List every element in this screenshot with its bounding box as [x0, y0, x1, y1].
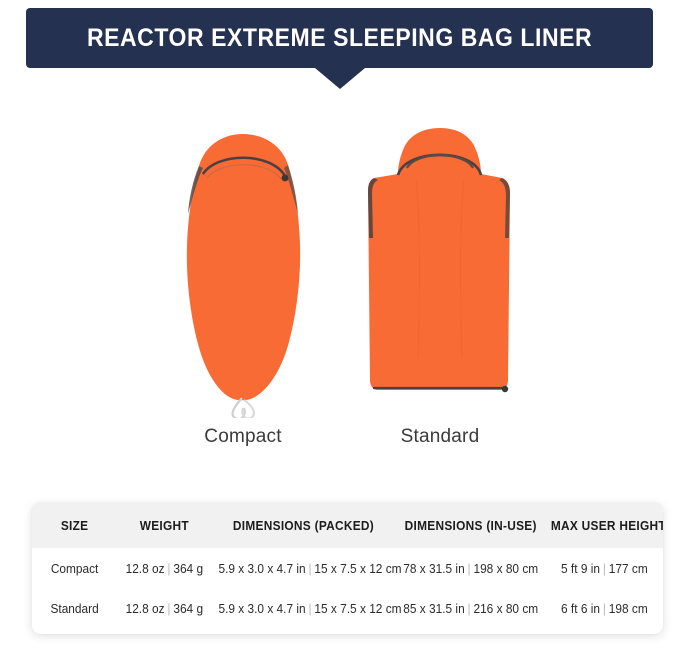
height-metric: 177 cm	[609, 562, 648, 576]
col-header-weight: WEIGHT	[120, 503, 210, 548]
inuse-imperial: 85 x 31.5 in	[403, 602, 464, 616]
cell-dimensions-packed: 5.9 x 3.0 x 4.7 in|15 x 7.5 x 12 cm	[216, 548, 390, 590]
inuse-imperial: 78 x 31.5 in	[403, 562, 464, 576]
col-header-dimensions-packed: DIMENSIONS (PACKED)	[216, 503, 390, 548]
page-title: REACTOR EXTREME SLEEPING BAG LINER	[87, 26, 592, 51]
spec-table-body: Compact 12.8 oz|364 g 5.9 x 3.0 x 4.7 in…	[32, 548, 663, 634]
banner-notch-triangle	[315, 68, 365, 89]
col-header-size: SIZE	[34, 503, 115, 548]
spec-table: SIZE WEIGHT DIMENSIONS (PACKED) DIMENSIO…	[32, 503, 663, 634]
standard-bottom-toggle	[502, 386, 508, 392]
weight-imperial: 12.8 oz	[126, 562, 165, 576]
cell-dimensions-in-use: 78 x 31.5 in|198 x 80 cm	[399, 548, 543, 590]
weight-metric: 364 g	[174, 602, 204, 616]
packed-imperial: 5.9 x 3.0 x 4.7 in	[218, 562, 305, 576]
table-row: Compact 12.8 oz|364 g 5.9 x 3.0 x 4.7 in…	[32, 548, 663, 590]
packed-metric: 15 x 7.5 x 12 cm	[314, 602, 401, 616]
unit-separator: |	[464, 562, 473, 576]
cell-dimensions-packed: 5.9 x 3.0 x 4.7 in|15 x 7.5 x 12 cm	[216, 590, 390, 634]
weight-imperial: 12.8 oz	[126, 602, 165, 616]
spec-table-head: SIZE WEIGHT DIMENSIONS (PACKED) DIMENSIO…	[32, 503, 663, 548]
inuse-metric: 198 x 80 cm	[473, 562, 538, 576]
cell-max-user-height: 6 ft 6 in|198 cm	[549, 590, 660, 634]
unit-separator: |	[600, 602, 609, 616]
table-row: Standard 12.8 oz|364 g 5.9 x 3.0 x 4.7 i…	[32, 590, 663, 634]
inuse-metric: 216 x 80 cm	[473, 602, 538, 616]
packed-imperial: 5.9 x 3.0 x 4.7 in	[218, 602, 305, 616]
cell-weight: 12.8 oz|364 g	[120, 548, 210, 590]
weight-metric: 364 g	[174, 562, 204, 576]
compact-drawcord-toggle	[282, 175, 289, 182]
standard-liner-illustration	[340, 118, 540, 418]
cell-max-user-height: 5 ft 9 in|177 cm	[549, 548, 660, 590]
caption-standard: Standard	[340, 426, 540, 448]
cell-size: Compact	[34, 548, 115, 590]
packed-metric: 15 x 7.5 x 12 cm	[314, 562, 401, 576]
cell-size: Standard	[34, 590, 115, 634]
height-imperial: 6 ft 6 in	[561, 602, 600, 616]
col-header-dimensions-in-use: DIMENSIONS (IN-USE)	[399, 503, 543, 548]
unit-separator: |	[600, 562, 609, 576]
cell-dimensions-in-use: 85 x 31.5 in|216 x 80 cm	[399, 590, 543, 634]
caption-compact: Compact	[143, 426, 343, 448]
unit-separator: |	[165, 562, 174, 576]
product-compact: Compact	[143, 118, 343, 458]
product-illustrations: Compact Standard	[0, 118, 679, 458]
product-standard: Standard	[340, 118, 540, 458]
unit-separator: |	[464, 602, 473, 616]
cell-weight: 12.8 oz|364 g	[120, 590, 210, 634]
table-header-row: SIZE WEIGHT DIMENSIONS (PACKED) DIMENSIO…	[32, 503, 663, 548]
compact-liner-illustration	[143, 118, 343, 418]
product-title-banner: REACTOR EXTREME SLEEPING BAG LINER	[26, 8, 653, 68]
height-imperial: 5 ft 9 in	[561, 562, 600, 576]
unit-separator: |	[305, 562, 314, 576]
height-metric: 198 cm	[609, 602, 648, 616]
spec-table-card: SIZE WEIGHT DIMENSIONS (PACKED) DIMENSIO…	[32, 503, 663, 634]
unit-separator: |	[165, 602, 174, 616]
standard-body	[368, 128, 510, 390]
col-header-max-user-height: MAX USER HEIGHT	[549, 503, 660, 548]
unit-separator: |	[305, 602, 314, 616]
banner-body: REACTOR EXTREME SLEEPING BAG LINER	[26, 8, 653, 68]
